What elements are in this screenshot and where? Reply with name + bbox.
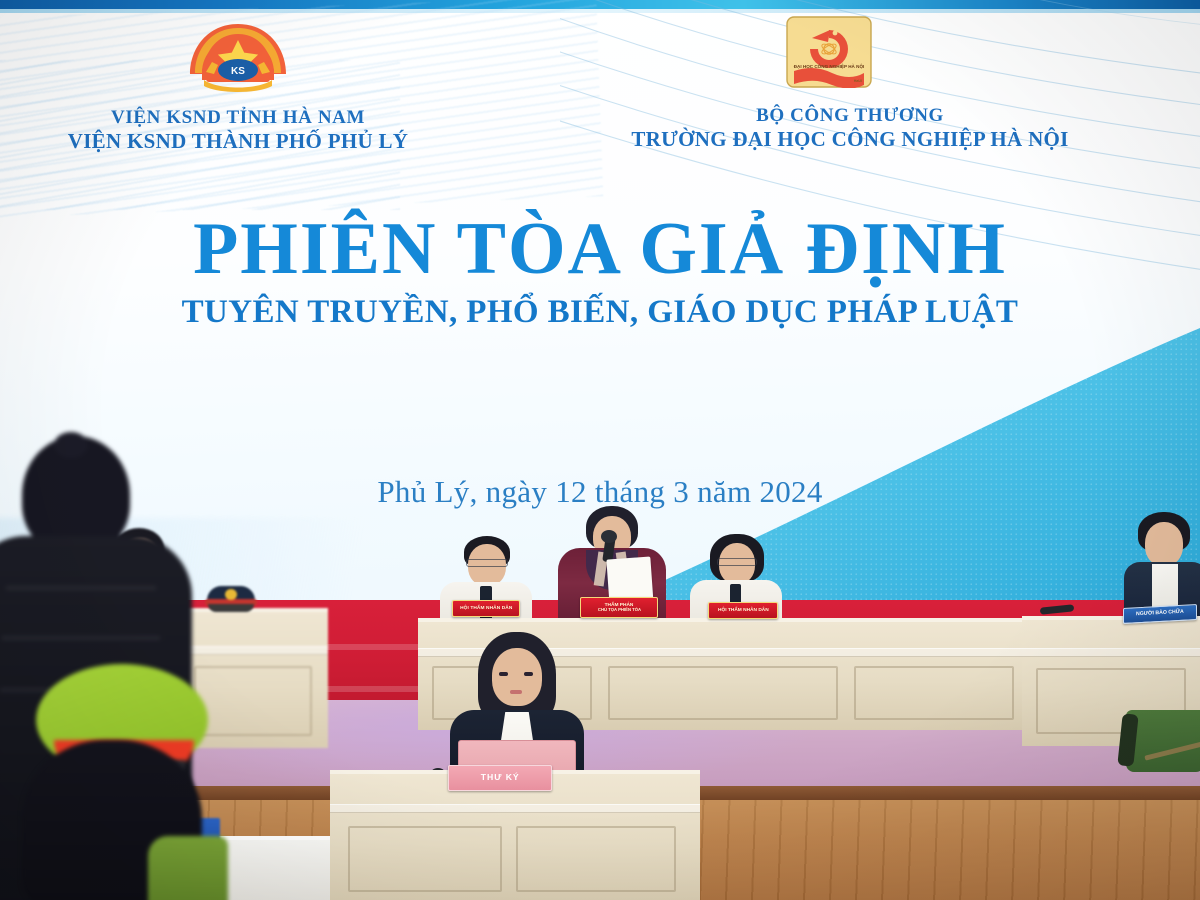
haui-logo-abbr: HaUI bbox=[854, 79, 862, 83]
haui-university-logo-icon: ĐẠI HỌC CÔNG NGHIỆP HÀ NỘI HaUI bbox=[786, 16, 872, 88]
assessor-right-glasses-icon bbox=[717, 558, 757, 566]
backdrop-cyan-swoosh bbox=[580, 288, 1200, 618]
police-peaked-cap-icon bbox=[205, 586, 257, 614]
green-duffel-bag-icon bbox=[1118, 704, 1200, 780]
svg-text:KS: KS bbox=[231, 66, 245, 77]
nameplate-clerk: THƯ KÝ bbox=[448, 765, 552, 791]
microphone-head-icon bbox=[601, 530, 617, 543]
nameplate-presiding-judge: THẨM PHÁN CHỦ TỌA PHIÊN TÒA bbox=[580, 597, 658, 618]
event-title: PHIÊN TÒA GIẢ ĐỊNH bbox=[0, 210, 1200, 288]
clerk-eye-left bbox=[499, 672, 508, 676]
nameplate-assessor-left: HỘI THẨM NHÂN DÂN bbox=[452, 600, 520, 617]
right-org-line2: TRƯỜNG ĐẠI HỌC CÔNG NGHIỆP HÀ NỘI bbox=[566, 127, 1134, 152]
vietnam-national-emblem-ks-icon: KS bbox=[182, 18, 294, 100]
haui-logo-text: ĐẠI HỌC CÔNG NGHIỆP HÀ NỘI bbox=[794, 62, 865, 69]
audience-long-hair-figure bbox=[22, 740, 222, 900]
audience-man-topknot bbox=[54, 432, 88, 458]
left-organization-heading: VIỆN KSND TỈNH HÀ NAM VIỆN KSND THÀNH PH… bbox=[28, 106, 448, 154]
left-org-line1: VIỆN KSND TỈNH HÀ NAM bbox=[28, 106, 448, 129]
audience-green-uniform bbox=[148, 836, 228, 900]
left-org-line2: VIỆN KSND THÀNH PHỐ PHỦ LÝ bbox=[28, 129, 448, 154]
assessor-left-glasses-icon bbox=[466, 559, 508, 567]
nameplate-assessor-right: HỘI THẨM NHÂN DÂN bbox=[708, 602, 778, 619]
defender-head bbox=[1145, 522, 1183, 566]
clerk-head bbox=[492, 648, 542, 706]
event-subtitle: TUYÊN TRUYỀN, PHỔ BIẾN, GIÁO DỤC PHÁP LU… bbox=[0, 292, 1200, 332]
photo-scene: KS ĐẠI HỌC CÔNG NGHIỆP HÀ NỘI HaUI bbox=[0, 0, 1200, 900]
right-org-line1: BỘ CÔNG THƯƠNG bbox=[566, 104, 1134, 127]
clerk-mouth bbox=[510, 690, 522, 694]
clerk-eye-right bbox=[524, 672, 533, 676]
right-organization-heading: BỘ CÔNG THƯƠNG TRƯỜNG ĐẠI HỌC CÔNG NGHIỆ… bbox=[566, 104, 1134, 152]
